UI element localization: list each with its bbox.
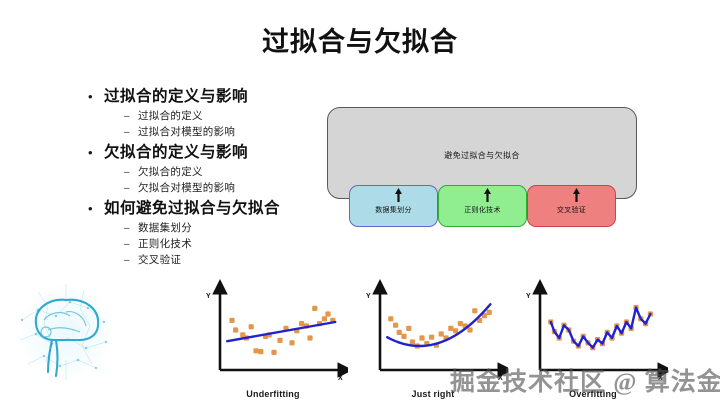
- diagram-parent-label: 避免过拟合与欠拟合: [327, 150, 637, 161]
- outline-item-level1: •如何避免过拟合与欠拟合: [88, 196, 328, 218]
- data-point: [393, 323, 398, 328]
- data-point: [307, 335, 312, 340]
- data-point: [271, 350, 276, 355]
- diagram-child-box-3[interactable]: 交叉验证: [527, 185, 616, 227]
- y-axis-label: Y: [206, 293, 211, 300]
- fit-line: [551, 308, 651, 348]
- data-point: [406, 326, 411, 331]
- outline-item-label: 数据集划分: [138, 220, 192, 235]
- data-point: [325, 311, 330, 316]
- data-point: [322, 316, 327, 321]
- data-point: [312, 306, 317, 311]
- diagram-child-label: 交叉验证: [528, 205, 615, 215]
- bullet-marker-icon: •: [88, 146, 104, 159]
- chart-underfitting: YX Underfitting: [198, 278, 348, 398]
- outline-item-label: 如何避免过拟合与欠拟合: [104, 196, 280, 218]
- bullet-marker-icon: –: [124, 224, 138, 234]
- y-axis-label: Y: [526, 293, 531, 300]
- data-point: [233, 327, 238, 332]
- data-point: [448, 326, 453, 331]
- diagram-child-label: 正则化技术: [439, 205, 526, 215]
- data-point: [487, 310, 492, 315]
- data-point: [253, 348, 258, 353]
- data-point: [289, 340, 294, 345]
- diagram-child-box-2[interactable]: 正则化技术: [438, 185, 527, 227]
- outline-item-level2: –欠拟合对模型的影响: [88, 180, 328, 195]
- bullet-marker-icon: –: [124, 240, 138, 250]
- page-title: 过拟合与欠拟合: [0, 20, 720, 59]
- outline-item-level2: –正则化技术: [88, 236, 328, 251]
- diagram-child-box-1[interactable]: 数据集划分: [349, 185, 438, 227]
- data-point: [249, 324, 254, 329]
- outline-item-level1: •欠拟合的定义与影响: [88, 140, 328, 162]
- bullet-marker-icon: –: [124, 256, 138, 266]
- bullet-marker-icon: –: [124, 184, 138, 194]
- slide-canvas: 过拟合与欠拟合 •过拟合的定义与影响–过拟合的定义–过拟合对模型的影响•欠拟合的…: [0, 0, 720, 405]
- data-point: [439, 331, 444, 336]
- data-point: [453, 328, 458, 333]
- data-point: [467, 327, 472, 332]
- outline-item-label: 过拟合的定义: [138, 108, 203, 123]
- outline-item-level2: –交叉验证: [88, 252, 328, 267]
- diagram-child-label: 数据集划分: [350, 205, 437, 215]
- outline-item-level1: •过拟合的定义与影响: [88, 84, 328, 106]
- bullet-marker-icon: •: [88, 202, 104, 215]
- outline-item-level2: –过拟合的定义: [88, 108, 328, 123]
- outline-item-label: 欠拟合的定义与影响: [104, 140, 248, 162]
- data-point: [277, 338, 282, 343]
- outline-item-label: 过拟合对模型的影响: [138, 124, 235, 139]
- data-point: [258, 349, 263, 354]
- data-point: [458, 321, 463, 326]
- outline-item-level2: –数据集划分: [88, 220, 328, 235]
- data-point: [229, 318, 234, 323]
- data-point: [472, 308, 477, 313]
- outline-list: •过拟合的定义与影响–过拟合的定义–过拟合对模型的影响•欠拟合的定义与影响–欠拟…: [88, 84, 328, 268]
- bullet-marker-icon: •: [88, 90, 104, 103]
- avoidance-diagram: 避免过拟合与欠拟合 数据集划分正则化技术交叉验证: [327, 107, 637, 227]
- brain-network-svg: [8, 272, 124, 392]
- data-point: [397, 330, 402, 335]
- chart-underfitting-caption: Underfitting: [198, 389, 348, 399]
- data-point: [388, 316, 393, 321]
- outline-item-label: 正则化技术: [138, 236, 192, 251]
- data-point: [410, 339, 415, 344]
- chart-underfitting-svg: YX: [198, 278, 348, 398]
- outline-item-level2: –过拟合对模型的影响: [88, 124, 328, 139]
- watermark-text: 掘金技术社区 @ 算法金: [450, 362, 718, 398]
- data-point: [429, 335, 434, 340]
- outline-item-label: 交叉验证: [138, 252, 181, 267]
- outline-item-label: 欠拟合的定义: [138, 164, 203, 179]
- data-point: [419, 335, 424, 340]
- bullet-marker-icon: –: [124, 168, 138, 178]
- outline-item-level2: –欠拟合的定义: [88, 164, 328, 179]
- data-point: [299, 321, 304, 326]
- outline-item-label: 欠拟合对模型的影响: [138, 180, 235, 195]
- brain-network-icon: [8, 272, 124, 392]
- x-axis-label: X: [338, 375, 343, 382]
- y-axis-label: Y: [366, 293, 371, 300]
- bullet-marker-icon: –: [124, 112, 138, 122]
- bullet-marker-icon: –: [124, 128, 138, 138]
- outline-item-label: 过拟合的定义与影响: [104, 84, 248, 106]
- data-point: [401, 334, 406, 339]
